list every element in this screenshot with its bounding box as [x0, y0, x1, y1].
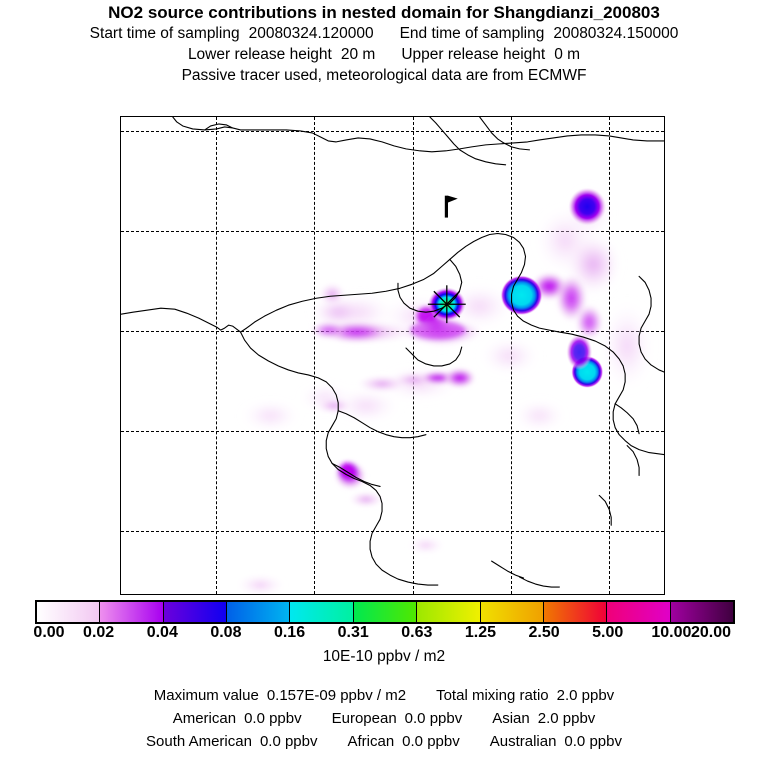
- colorbar-tick-9: 5.00: [592, 624, 623, 642]
- end-time-label: End time of sampling: [400, 23, 545, 44]
- region-row-1: American0.0 ppbvEuropean0.0 ppbvAsian2.0…: [0, 707, 768, 730]
- colorbar-tick-labels: 0.000.020.040.080.160.310.631.252.505.00…: [0, 624, 768, 644]
- region-row-2: South American0.0 ppbvAfrican0.0 ppbvAus…: [0, 730, 768, 753]
- release-height-row: Lower release height20 mUpper release he…: [0, 44, 768, 65]
- colorbar-tick-5: 0.31: [338, 624, 369, 642]
- sampling-time-row: Start time of sampling20080324.120000End…: [0, 23, 768, 44]
- max-value: 0.157E-09 ppbv / m2: [267, 687, 406, 704]
- region-value: 0.0 ppbv: [564, 733, 622, 750]
- colorbar-tick-6: 0.63: [401, 624, 432, 642]
- page-title: NO2 source contributions in nested domai…: [0, 0, 768, 23]
- colorbar[interactable]: [35, 600, 735, 624]
- header-block: NO2 source contributions in nested domai…: [0, 0, 768, 86]
- region-name: European: [332, 710, 397, 727]
- total-ratio-label: Total mixing ratio: [436, 687, 549, 704]
- colorbar-segment-9: [607, 602, 670, 622]
- region-value: 0.0 ppbv: [244, 710, 302, 727]
- colorbar-tick-8: 2.50: [529, 624, 560, 642]
- colorbar-segment-7: [481, 602, 544, 622]
- colorbar-segment-6: [417, 602, 480, 622]
- region-value: 0.0 ppbv: [405, 710, 463, 727]
- colorbar-tick-7: 1.25: [465, 624, 496, 642]
- colorbar-segment-0: [37, 602, 100, 622]
- colorbar-segment-4: [290, 602, 353, 622]
- colorbar-tick-4: 0.16: [274, 624, 305, 642]
- start-time-label: Start time of sampling: [90, 23, 240, 44]
- region-name: African: [347, 733, 394, 750]
- lower-release-label: Lower release height: [188, 44, 332, 65]
- max-value-label: Maximum value: [154, 687, 259, 704]
- region-name: Australian: [490, 733, 557, 750]
- region-name: South American: [146, 733, 252, 750]
- colorbar-tick-2: 0.04: [147, 624, 178, 642]
- max-value-row: Maximum value0.157E-09 ppbv / m2Total mi…: [0, 684, 768, 707]
- map-plot-area: [120, 116, 665, 595]
- colorbar-tick-1: 0.02: [83, 624, 114, 642]
- colorbar-segment-5: [354, 602, 417, 622]
- colorbar-segment-1: [100, 602, 163, 622]
- colorbar-tick-10: 10.00: [651, 624, 691, 642]
- colorbar-segment-10: [671, 602, 733, 622]
- upper-release-label: Upper release height: [401, 44, 545, 65]
- end-time-value: 20080324.150000: [553, 23, 678, 44]
- colorbar-tick-0: 0.00: [33, 624, 64, 642]
- lower-release-value: 20 m: [341, 44, 375, 65]
- colorbar-unit-label: 10E-10 ppbv / m2: [0, 648, 768, 666]
- map-inner: [121, 117, 664, 594]
- colorbar-segment-3: [227, 602, 290, 622]
- colorbar-segment-8: [544, 602, 607, 622]
- tracer-note: Passive tracer used, meteorological data…: [0, 65, 768, 86]
- region-name: American: [173, 710, 236, 727]
- start-time-value: 20080324.120000: [249, 23, 374, 44]
- region-value: 0.0 ppbv: [402, 733, 460, 750]
- colorbar-segment-2: [164, 602, 227, 622]
- total-ratio-value: 2.0 ppbv: [557, 687, 615, 704]
- station-tick-icon: [445, 196, 458, 218]
- colorbar-tick-3: 0.08: [210, 624, 241, 642]
- region-name: Asian: [492, 710, 530, 727]
- upper-release-value: 0 m: [554, 44, 580, 65]
- release-site-marker: [121, 117, 664, 594]
- region-value: 0.0 ppbv: [260, 733, 318, 750]
- colorbar-tick-11: 20.00: [691, 624, 731, 642]
- statistics-block: Maximum value0.157E-09 ppbv / m2Total mi…: [0, 684, 768, 753]
- region-value: 2.0 ppbv: [538, 710, 596, 727]
